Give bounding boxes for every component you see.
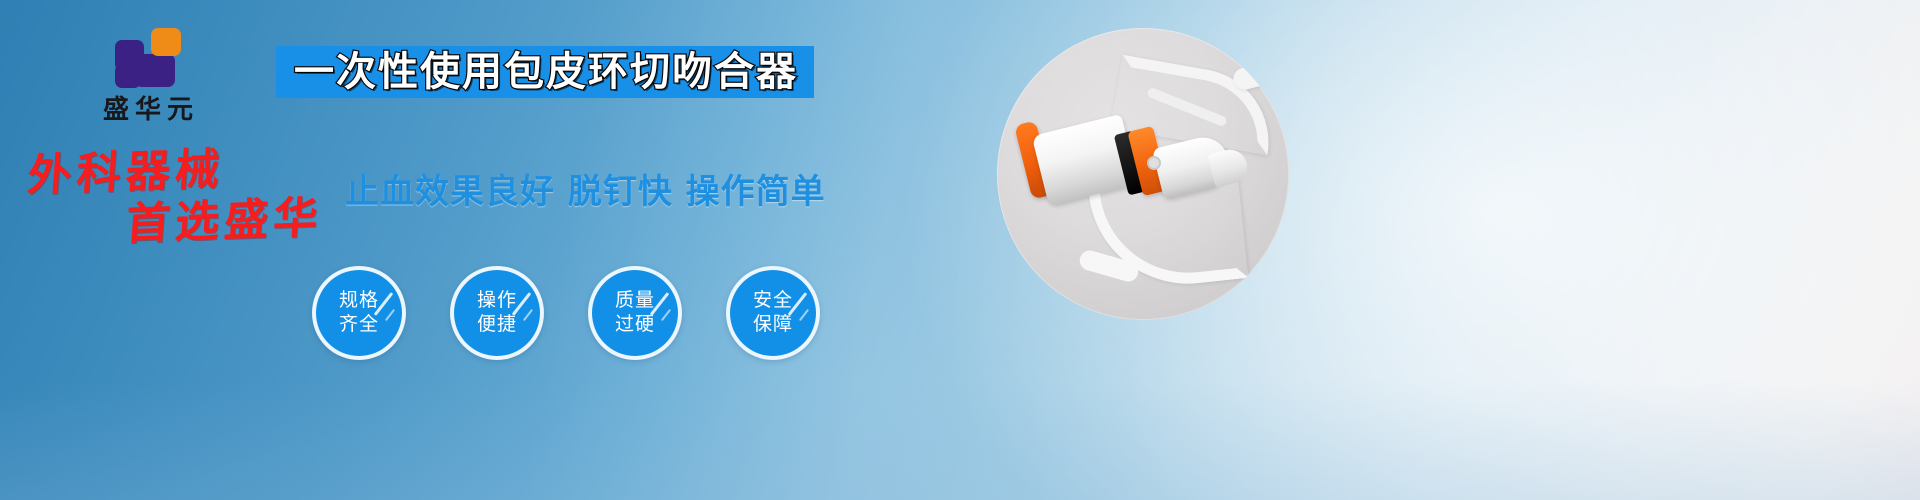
highlight-glint-small-icon (799, 309, 809, 321)
feature-3-line-1: 质量 (615, 289, 655, 313)
feature-1-line-2: 齐全 (339, 313, 379, 337)
calligraphy-slogan: 外科器械 首选盛华 (18, 148, 358, 246)
feature-badge-1[interactable]: 规格 齐全 (312, 266, 406, 360)
feature-3-line-2: 过硬 (615, 313, 655, 337)
feature-badge-2[interactable]: 操作 便捷 (450, 266, 544, 360)
subtitle-text: 止血效果良好 脱钉快 操作简单 (345, 164, 826, 213)
feature-badges: 规格 齐全 操作 便捷 质量 过硬 安全 保障 (312, 266, 820, 360)
promo-banner: 盛华元 外科器械 首选盛华 一次性使用包皮环切吻合器 止血效果良好 脱钉快 操作… (0, 0, 1920, 500)
feature-2-line-1: 操作 (477, 289, 517, 313)
highlight-glint-small-icon (385, 309, 395, 321)
product-photo-circle (997, 28, 1289, 320)
highlight-glint-small-icon (661, 309, 671, 321)
feature-4-line-1: 安全 (753, 289, 793, 313)
circumcision-stapler-device-photo (997, 28, 1289, 320)
feature-badge-3[interactable]: 质量 过硬 (588, 266, 682, 360)
feature-4-line-2: 保障 (753, 313, 793, 337)
calligraphy-line-2: 首选盛华 (16, 194, 360, 252)
main-title-banner: 一次性使用包皮环切吻合器 (276, 46, 814, 98)
bottom-vignette (0, 380, 1920, 500)
main-title-text: 一次性使用包皮环切吻合器 (294, 52, 798, 92)
feature-2-line-2: 便捷 (477, 313, 517, 337)
feature-1-line-1: 规格 (339, 289, 379, 313)
shenghuayuan-logo-icon (115, 28, 181, 90)
brand-name: 盛华元 (68, 96, 228, 125)
feature-badge-4[interactable]: 安全 保障 (726, 266, 820, 360)
brand-logo-block[interactable]: 盛华元 (68, 28, 228, 125)
highlight-glint-small-icon (523, 309, 533, 321)
calligraphy-line-1: 外科器械 (16, 142, 360, 200)
